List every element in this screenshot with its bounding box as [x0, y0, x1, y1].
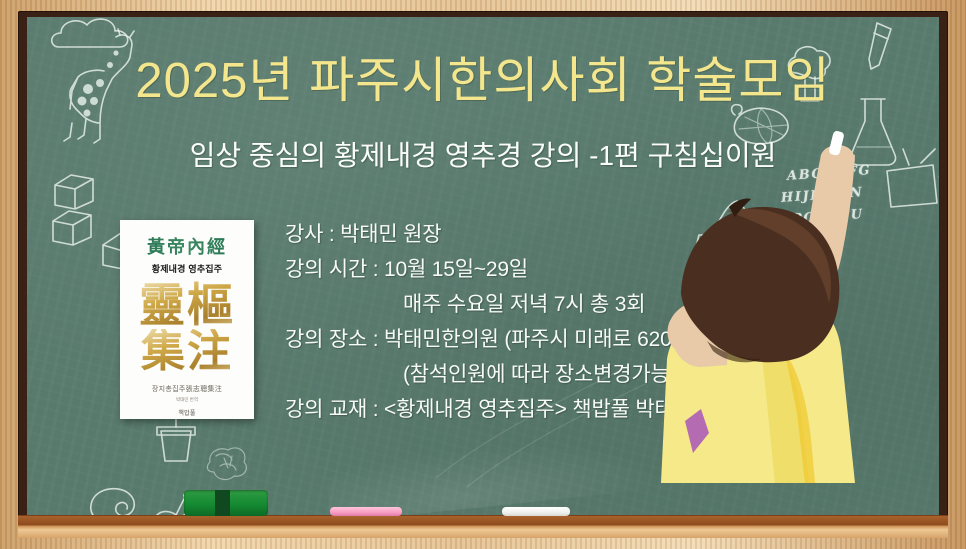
chalk-ledge — [18, 516, 948, 538]
book-publisher-logo: 책밥풀 — [120, 411, 254, 418]
poster-title: 2025년 파주시한의사회 학술모임 — [27, 41, 939, 112]
poster-root: ABCDEFG HIJKLMN OPQRSTU VWXYZ 2025년 파주시한… — [0, 0, 966, 549]
book-hanja-title: 黃帝內經 — [120, 233, 254, 259]
book-cover-image: 黃帝內經 황제내경 영추집주 靈樞 集注 장지총집주張志聰集注 박태민 번역 책… — [120, 220, 254, 419]
white-chalk-stick[interactable] — [502, 507, 570, 516]
pink-chalk-stick[interactable] — [330, 507, 402, 516]
book-gold-title-line1: 靈樞 — [120, 281, 254, 329]
chalkboard-surface: ABCDEFG HIJKLMN OPQRSTU VWXYZ 2025년 파주시한… — [27, 17, 939, 516]
book-caption: 장지총집주張志聰集注 — [120, 384, 254, 394]
book-korean-title: 황제내경 영추집주 — [120, 262, 254, 275]
book-gold-title-line2: 集注 — [120, 329, 254, 375]
scribble-bug-icon — [202, 442, 252, 482]
snail-icon — [71, 477, 201, 516]
book-translator-note: 박태민 번역 — [120, 397, 254, 403]
student-illustration — [609, 153, 939, 483]
blackboard-eraser[interactable] — [184, 490, 268, 516]
